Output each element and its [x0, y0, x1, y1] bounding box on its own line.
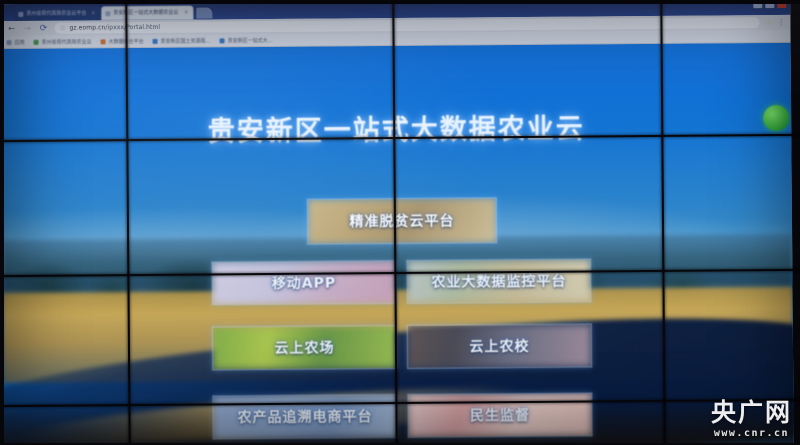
new-tab-button[interactable]: [196, 7, 212, 18]
tab-close-icon[interactable]: ×: [184, 10, 188, 15]
bookmark-icon: [101, 39, 106, 44]
tile-livelihood-supervision[interactable]: 民生监督: [407, 392, 592, 437]
photo-edge-top: [0, 0, 800, 4]
tile-label: 农业大数据监控平台: [431, 271, 566, 292]
tile-label: 云上农校: [469, 336, 529, 356]
bookmark-item-1[interactable]: 贵州省现代高效农业云: [34, 38, 92, 45]
watermark-url: www.cnr.cn: [711, 428, 792, 439]
tile-poverty-alleviation-cloud[interactable]: 精准脱贫云平台: [307, 197, 497, 244]
photographed-video-wall-screenshot: 贵州省现代高效农业云平台 × 贵安新区一站式大数据农业云 × ←: [0, 0, 800, 445]
bookmark-label: 贵州省现代高效农业云: [42, 38, 92, 45]
photo-edge-left: [0, 0, 4, 445]
tile-label: 移动APP: [272, 272, 337, 293]
bookmark-icon: [153, 38, 158, 43]
bookmark-item-3[interactable]: 贵安新区国土资源局…: [153, 37, 211, 44]
tab-title: 贵州省现代高效农业云平台: [26, 11, 86, 16]
url-path: /ipxxx/Portal.html: [105, 24, 160, 31]
browser-tab-active[interactable]: 贵安新区一站式大数据农业云 ×: [101, 6, 193, 21]
cnr-watermark: 央广网 www.cnr.cn: [711, 400, 792, 439]
video-wall-surface: 贵州省现代高效农业云平台 × 贵安新区一站式大数据农业云 × ←: [0, 0, 800, 445]
chrome-menu-icon[interactable]: ⋮: [777, 18, 784, 27]
site-info-icon[interactable]: ⓘ: [60, 25, 65, 32]
tile-cloud-agri-school[interactable]: 云上农校: [407, 323, 592, 368]
tile-label: 民生监督: [470, 405, 530, 425]
apps-icon: [7, 40, 12, 45]
bookmark-item-apps[interactable]: 应用: [7, 38, 25, 45]
watermark-brand: 央广网: [711, 400, 792, 425]
page-favicon: [105, 11, 110, 16]
tile-label: 精准脱贫云平台: [349, 211, 454, 232]
bookmark-icon: [220, 38, 225, 43]
page-title: 贵安新区一站式大数据农业云: [1, 105, 791, 150]
tile-agriculture-bigdata-monitor[interactable]: 农业大数据监控平台: [406, 258, 591, 303]
url-host: gz.eomp.cn: [69, 24, 105, 31]
url-text: gz.eomp.cn/ipxxx/Portal.html: [69, 24, 160, 32]
browser-tab-inactive[interactable]: 贵州省现代高效农业云平台 ×: [14, 6, 100, 21]
tile-product-traceability-ecommerce[interactable]: 农产品追溯电商平台: [212, 394, 397, 439]
chat-bubble-icon[interactable]: [763, 105, 789, 131]
tab-close-icon[interactable]: ×: [91, 11, 95, 16]
tile-cloud-farm[interactable]: 云上农场: [212, 325, 397, 370]
tab-title: 贵安新区一站式大数据农业云: [113, 10, 178, 16]
back-icon[interactable]: ←: [6, 24, 16, 33]
bookmark-item-2[interactable]: 大数据综合平台: [101, 38, 144, 45]
reload-icon[interactable]: ⟳: [38, 23, 48, 33]
bookmark-label: 贵安新区国土资源局…: [161, 37, 211, 44]
bookmark-item-4[interactable]: 贵安新区一站式大…: [220, 36, 273, 43]
bookmark-label: 应用: [15, 38, 25, 45]
bookmark-star-icon[interactable]: ☆: [765, 19, 771, 27]
tile-mobile-app[interactable]: 移动APP: [211, 260, 396, 305]
tile-label: 云上农场: [274, 338, 334, 358]
bookmark-label: 贵安新区一站式大…: [228, 36, 273, 43]
tile-label: 农产品追溯电商平台: [237, 406, 372, 427]
background-bottom-shade: [3, 401, 793, 445]
forward-icon[interactable]: →: [22, 24, 32, 33]
bookmark-icon: [34, 39, 39, 44]
page-favicon: [18, 11, 23, 16]
